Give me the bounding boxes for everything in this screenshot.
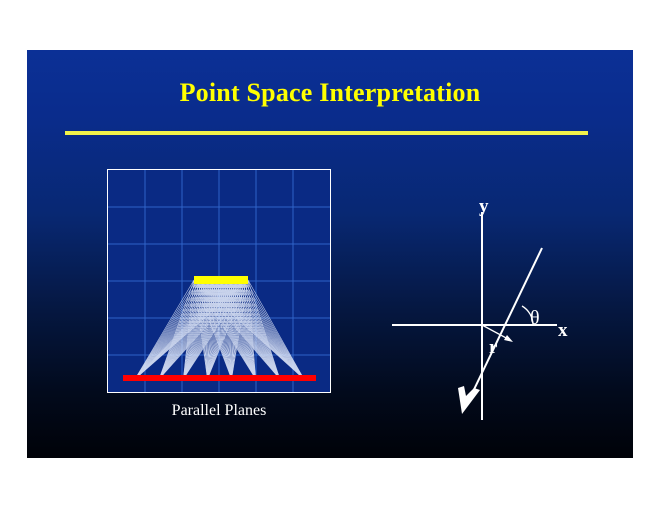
point-space-axes-svg <box>382 190 582 430</box>
y-axis-label: y <box>479 197 489 216</box>
x-axis-label: x <box>558 321 568 340</box>
parallel-planes-svg <box>108 170 330 392</box>
detector-plane-bar <box>123 375 316 381</box>
figure-caption: Parallel Planes <box>107 402 331 420</box>
parallel-planes-figure <box>107 169 331 393</box>
title-underline-rule <box>65 131 588 135</box>
page-title: Point Space Interpretation <box>27 78 633 108</box>
diagonal-arrowhead <box>458 386 480 414</box>
source-plane-bar <box>194 276 248 284</box>
radius-label: r <box>489 338 497 357</box>
point-space-axes-figure: y x θ r <box>382 190 582 430</box>
theta-angle-label: θ <box>530 308 540 328</box>
radius-arrowhead <box>504 335 513 342</box>
presentation-slide: Point Space Interpretation <box>27 50 633 458</box>
